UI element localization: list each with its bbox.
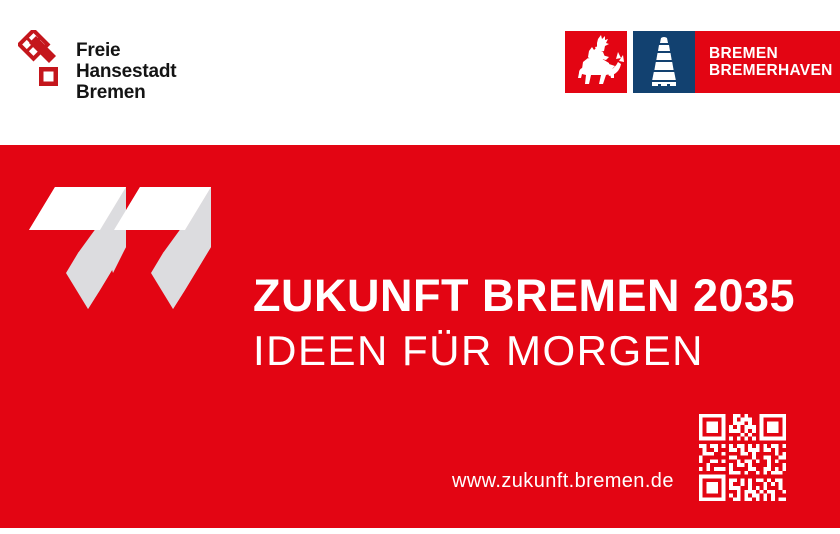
qr-code-icon[interactable] bbox=[695, 410, 790, 505]
freie-hansestadt-bremen-logo: Freie Hansestadt Bremen bbox=[18, 30, 176, 103]
double-chevron-arrow-icon bbox=[18, 185, 233, 315]
bremen-town-musicians-icon bbox=[565, 31, 627, 93]
campaign-panel: ZUKUNFT BREMEN 2035 IDEEN FÜR MORGEN www… bbox=[0, 145, 840, 528]
page-title: ZUKUNFT BREMEN 2035 bbox=[253, 273, 795, 318]
city-logo-wordmark: BREMEN BREMERHAVEN bbox=[695, 31, 840, 93]
state-logo-line-2: Hansestadt bbox=[76, 61, 176, 82]
bremerhaven-lighthouse-icon bbox=[633, 31, 695, 93]
city-logo-line-1: BREMEN bbox=[709, 45, 833, 63]
state-logo-line-3: Bremen bbox=[76, 82, 176, 103]
banner-canvas: Freie Hansestadt Bremen bbox=[0, 0, 840, 534]
page-subtitle: IDEEN FÜR MORGEN bbox=[253, 330, 704, 372]
state-logo-line-1: Freie bbox=[76, 40, 176, 61]
bremen-bremerhaven-logo: BREMEN BREMERHAVEN bbox=[565, 31, 840, 93]
campaign-url[interactable]: www.zukunft.bremen.de bbox=[452, 470, 674, 493]
header-band: Freie Hansestadt Bremen bbox=[0, 0, 840, 145]
city-logo-line-2: BREMERHAVEN bbox=[709, 62, 833, 80]
bremen-key-icon bbox=[18, 30, 66, 92]
state-logo-wordmark: Freie Hansestadt Bremen bbox=[76, 30, 176, 103]
